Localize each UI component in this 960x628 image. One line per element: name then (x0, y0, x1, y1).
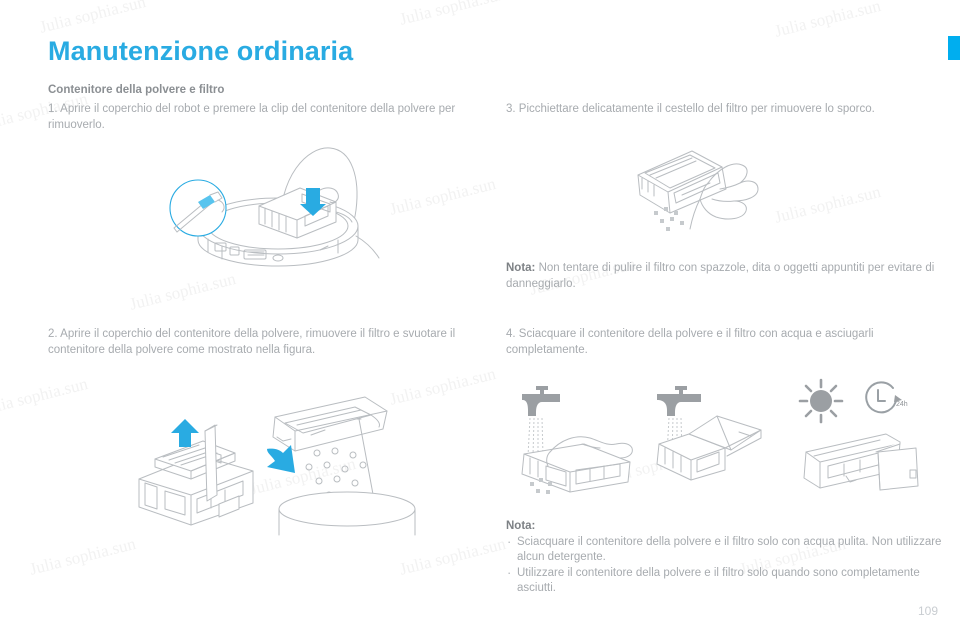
dustbin-tilted-pouring (273, 397, 387, 451)
figure-robot-open-lid (160, 140, 390, 270)
lid-hinge-panel (205, 425, 217, 501)
watermark: Julia sophia.sun (28, 534, 138, 580)
note-2-list: Sciacquare il contenitore della polvere … (506, 535, 954, 597)
figure-air-dry-dustbin (800, 430, 925, 505)
list-item: Sciacquare il contenitore della polvere … (506, 535, 954, 566)
watermark: Julia sophia.sun (128, 269, 238, 315)
icon-clock-24h: 24h (858, 378, 908, 424)
figure-tap-filter-basket (630, 145, 805, 250)
step-1-text: 1. Aprire il coperchio del robot e preme… (48, 102, 488, 133)
dustbin-lid-open (878, 448, 918, 490)
sun-icon (810, 390, 832, 412)
water-stream (528, 418, 543, 456)
watermark: Julia sophia.sun (38, 0, 148, 38)
page-number: 109 (918, 604, 938, 618)
step-3-text: 3. Picchiettare delicatamente il cestell… (506, 102, 946, 118)
figure-empty-dustbin (125, 395, 415, 530)
trash-bin (279, 492, 415, 535)
dustbin-under-tap (522, 444, 630, 492)
step-4-text: 4. Sciacquare il contenitore della polve… (506, 327, 946, 358)
filter-panel-open (657, 416, 761, 480)
note-2: Nota: Sciacquare il contenitore della po… (506, 519, 954, 597)
faucet-icon (522, 386, 560, 416)
manual-page: Julia sophia.sun Julia sophia.sun Julia … (0, 0, 960, 628)
filter-basket (638, 151, 726, 213)
step-2-text: 2. Aprire il coperchio del contenitore d… (48, 327, 488, 358)
watermark: Julia sophia.sun (398, 0, 508, 30)
figure-rinse-dustbin (520, 382, 640, 497)
watermark: Julia sophia.sun (388, 174, 498, 220)
faucet-icon (657, 386, 701, 416)
note-2-label: Nota: (506, 519, 954, 535)
watermark: Julia sophia.sun (773, 0, 883, 42)
clock-24h-icon (866, 382, 896, 412)
page-title: Manutenzione ordinaria (48, 36, 353, 67)
clock-label: 24h (896, 401, 908, 408)
section-heading: Contenitore della polvere e filtro (48, 84, 224, 96)
icon-sun-dry (798, 378, 844, 424)
arrow-up (171, 419, 199, 447)
arrow-pour (267, 445, 295, 473)
watermark: Julia sophia.sun (0, 374, 90, 420)
list-item: Utilizzare il contenitore della polvere … (506, 566, 954, 597)
note-1-label: Nota: (506, 262, 535, 274)
note-1-body: Non tentare di pulire il filtro con spaz… (506, 262, 934, 290)
figure-rinse-filter (655, 382, 780, 492)
edge-tab-marker (948, 36, 960, 60)
watermark: Julia sophia.sun (398, 534, 508, 580)
note-1: Nota: Non tentare di pulire il filtro co… (506, 261, 950, 292)
clip-detail-closeup (170, 180, 226, 236)
